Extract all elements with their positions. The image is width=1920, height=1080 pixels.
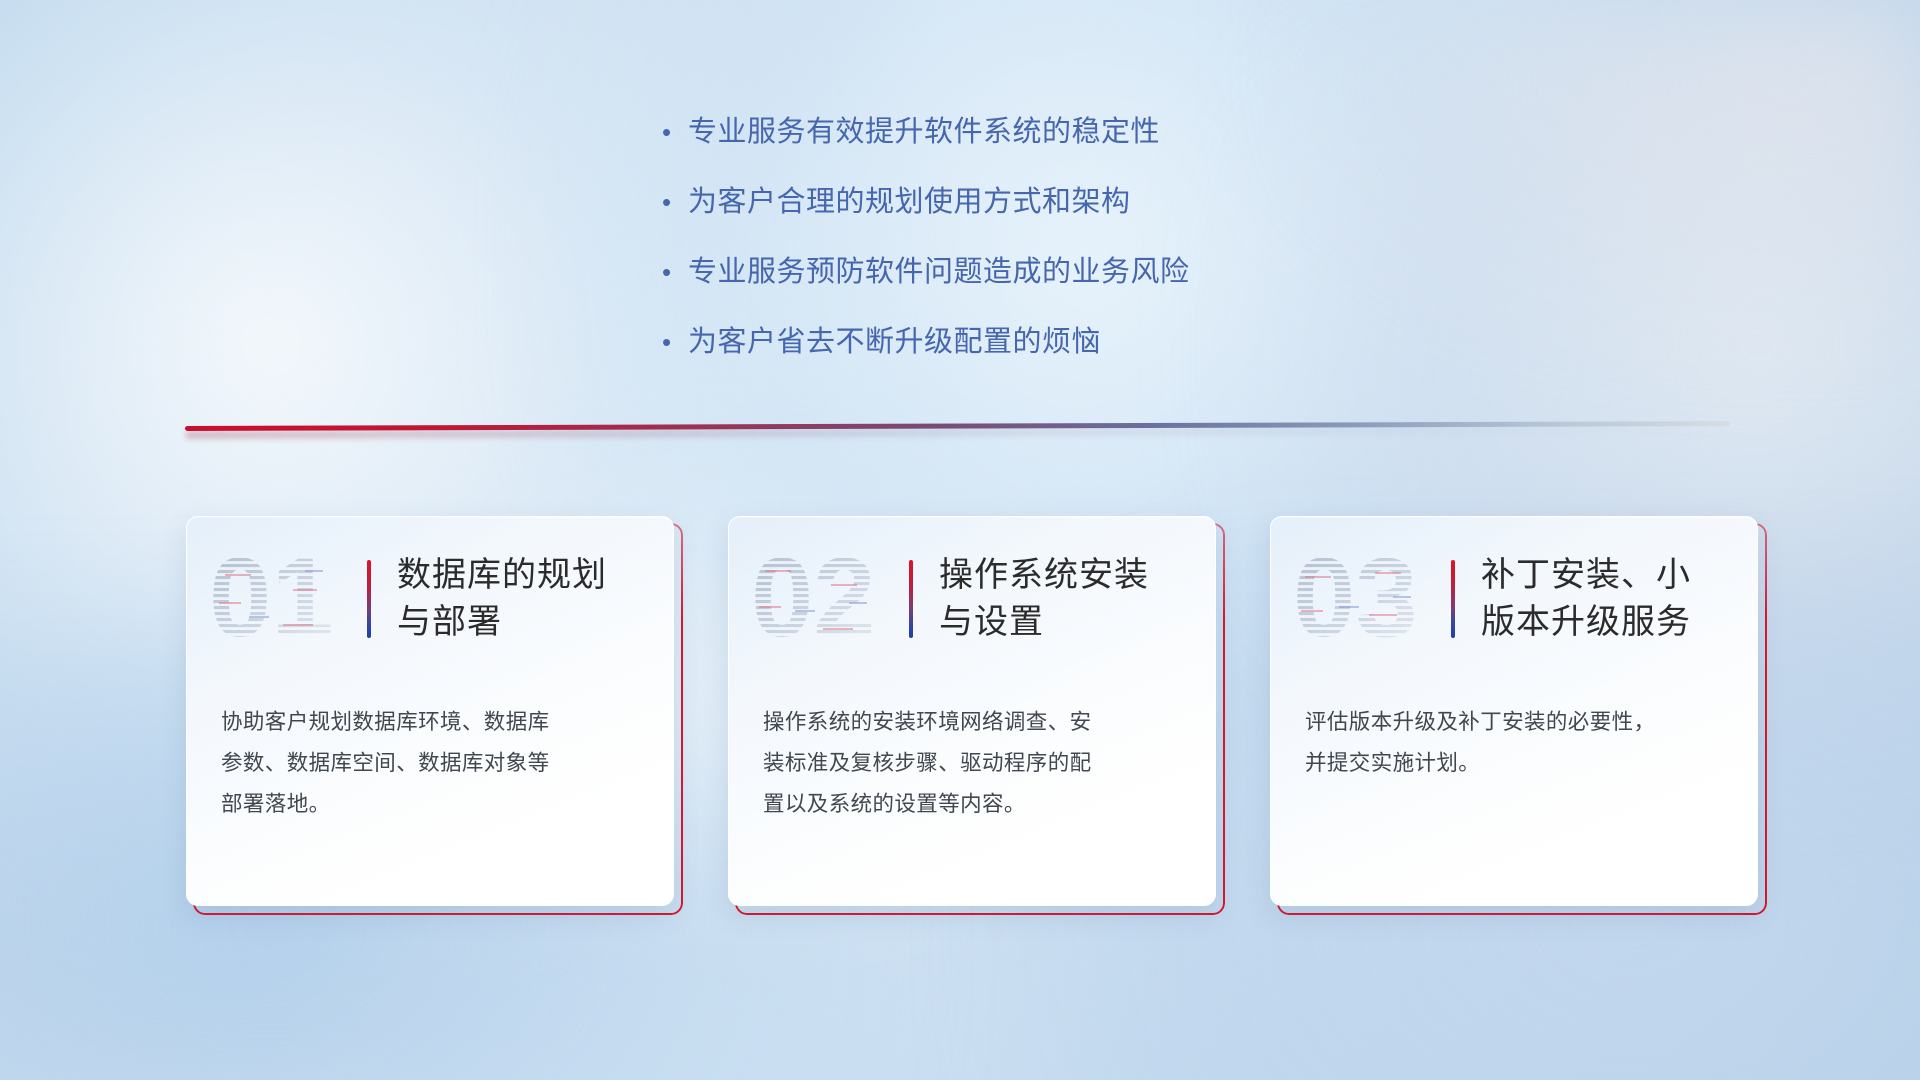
card-surface: 02 操作系统安装 与设置 [728,516,1216,906]
card-body-text: 协助客户规划数据库环境、数据库 参数、数据库空间、数据库对象等 部署落地。 [221,702,641,825]
card-body-line: 协助客户规划数据库环境、数据库 [221,702,641,743]
card-title-line: 补丁安装、小 [1481,552,1691,599]
card-body-text: 操作系统的安装环境网络调查、安 装标准及复核步骤、驱动程序的配 置以及系统的设置… [763,702,1183,825]
ghost-number-text: 03 [1293,540,1418,658]
list-item: • 专业服务预防软件问题造成的业务风险 [662,252,1422,292]
service-card-01[interactable]: 01 数据库的规划 与部署 [186,516,672,904]
card-body-line: 参数、数据库空间、数据库对象等 [221,743,641,784]
card-body-line: 置以及系统的设置等内容。 [763,784,1183,825]
list-item: • 为客户省去不断升级配置的烦恼 [662,322,1422,362]
bullet-text: 为客户合理的规划使用方式和架构 [688,182,1131,222]
bullet-text: 为客户省去不断升级配置的烦恼 [688,322,1101,362]
card-surface: 03 补丁安装、小 版本升级服务 [1270,516,1758,906]
card-body-line: 操作系统的安装环境网络调查、安 [763,702,1183,743]
card-surface: 01 数据库的规划 与部署 [186,516,674,906]
card-title-line: 数据库的规划 [397,552,607,599]
card-title: 操作系统安装 与设置 [939,552,1149,646]
bullet-dot-icon: • [662,252,688,292]
service-card-03[interactable]: 03 补丁安装、小 版本升级服务 [1270,516,1756,904]
card-body-line: 评估版本升级及补丁安装的必要性， [1305,702,1725,743]
ghost-number-03: 03 [1293,540,1443,658]
section-divider [185,424,1730,442]
bullet-dot-icon: • [662,322,688,362]
card-header: 03 补丁安装、小 版本升级服务 [1271,539,1757,659]
card-accent-bar [1451,560,1455,638]
card-body-line: 部署落地。 [221,784,641,825]
ghost-number-text: 01 [209,540,334,658]
list-item: • 专业服务有效提升软件系统的稳定性 [662,112,1422,152]
card-header: 02 操作系统安装 与设置 [729,539,1215,659]
card-body-line: 并提交实施计划。 [1305,743,1725,784]
bullet-dot-icon: • [662,182,688,222]
card-title: 补丁安装、小 版本升级服务 [1481,552,1691,646]
card-title: 数据库的规划 与部署 [397,552,607,646]
ghost-number-02: 02 [751,540,901,658]
ghost-number-01: 01 [209,540,359,658]
service-card-02[interactable]: 02 操作系统安装 与设置 [728,516,1214,904]
list-item: • 为客户合理的规划使用方式和架构 [662,182,1422,222]
card-title-line: 版本升级服务 [1481,599,1691,646]
card-title-line: 与设置 [939,599,1149,646]
card-title-line: 操作系统安装 [939,552,1149,599]
card-title-line: 与部署 [397,599,607,646]
bullet-text: 专业服务有效提升软件系统的稳定性 [688,112,1160,152]
benefits-bullet-list: • 专业服务有效提升软件系统的稳定性 • 为客户合理的规划使用方式和架构 • 专… [662,112,1422,392]
ghost-number-text: 02 [751,540,876,658]
bullet-text: 专业服务预防软件问题造成的业务风险 [688,252,1190,292]
card-accent-bar [909,560,913,638]
bullet-dot-icon: • [662,112,688,152]
card-accent-bar [367,560,371,638]
service-card-list: 01 数据库的规划 与部署 [186,516,1756,904]
card-header: 01 数据库的规划 与部署 [187,539,673,659]
card-body-line: 装标准及复核步骤、驱动程序的配 [763,743,1183,784]
card-body-text: 评估版本升级及补丁安装的必要性， 并提交实施计划。 [1305,702,1725,784]
